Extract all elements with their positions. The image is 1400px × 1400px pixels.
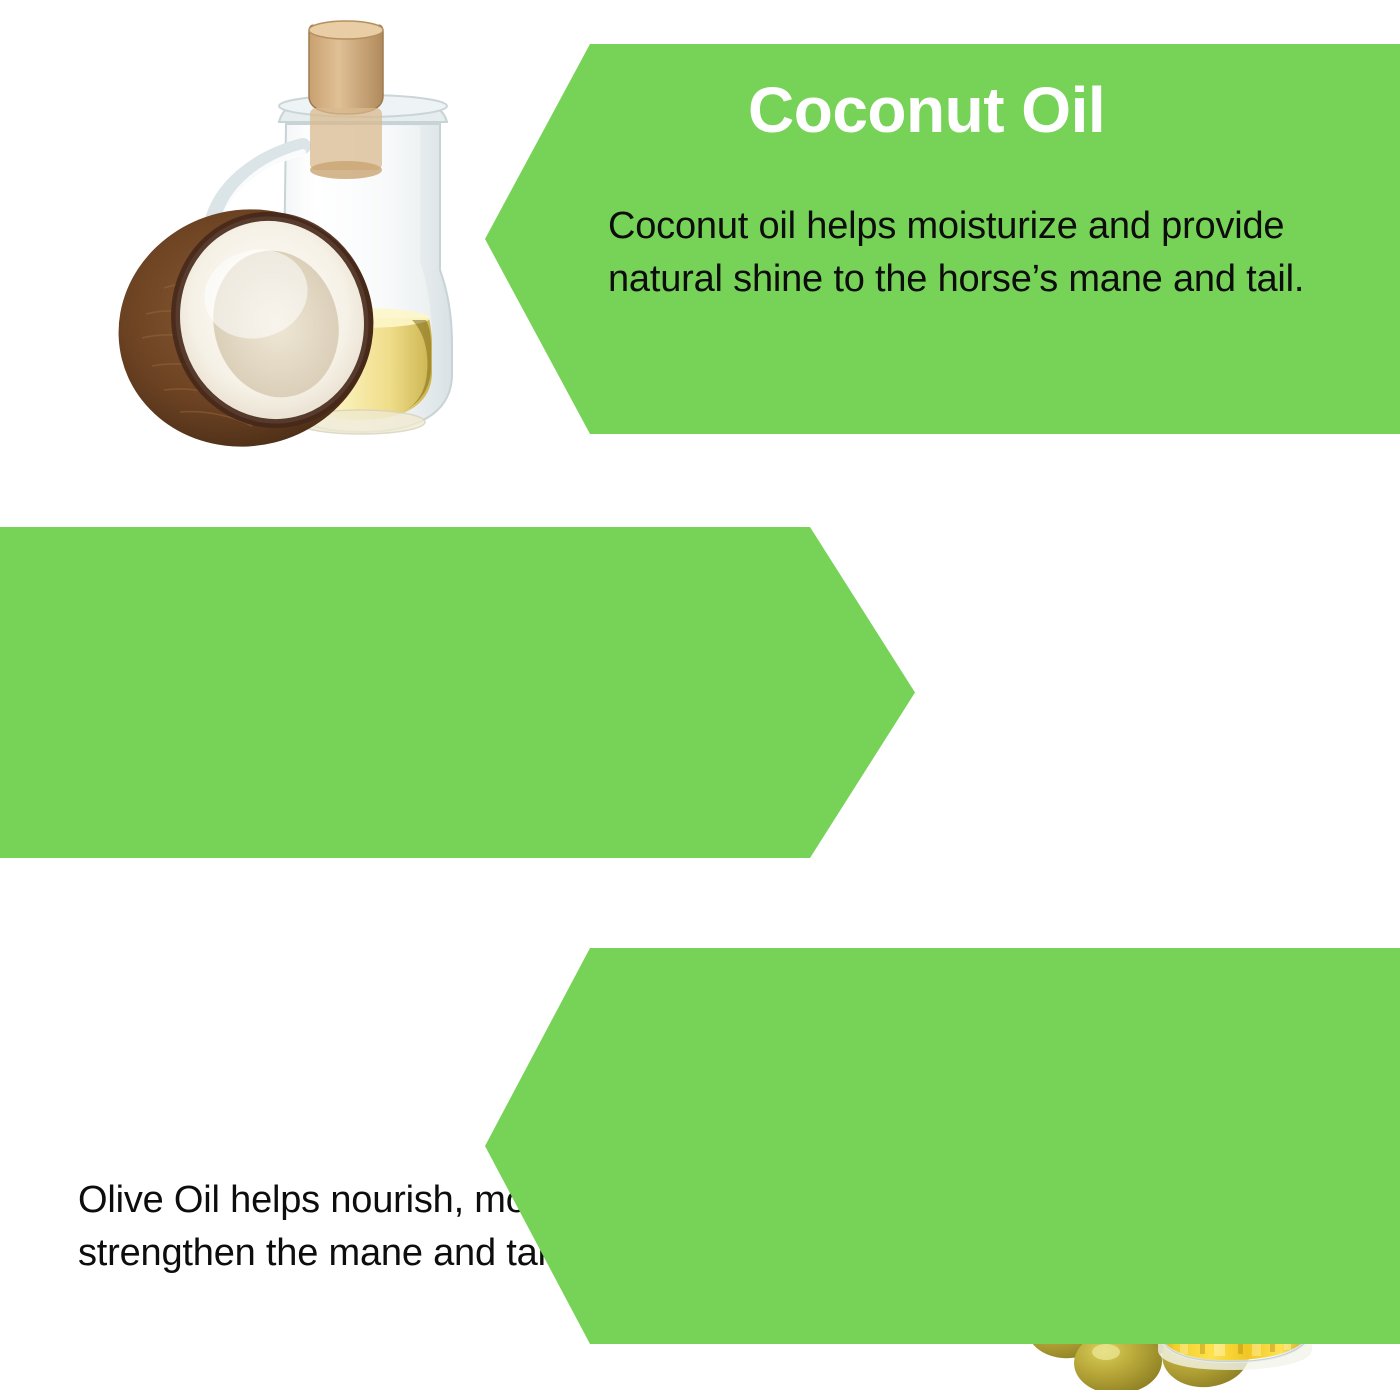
coconut-oil-bottle-photo [60,18,480,458]
jojoba-banner-shape [485,948,1400,1344]
olive-banner-shape [0,527,915,858]
section-coconut-oil: Coconut Oil Coconut oil helps moisturize… [0,0,1400,480]
coconut-title: Coconut Oil [748,78,1105,142]
coconut-description: Coconut oil helps moisturize and provide… [608,200,1308,306]
section-jojoba-oil: Jojoba Oil Jojoba oil is a great natural… [0,940,1400,1400]
section-olive-oil: Olive Oil Olive Oil helps nourish, moist… [0,480,1400,940]
ingredient-benefits-infographic: Coconut Oil Coconut oil helps moisturize… [0,0,1400,1400]
